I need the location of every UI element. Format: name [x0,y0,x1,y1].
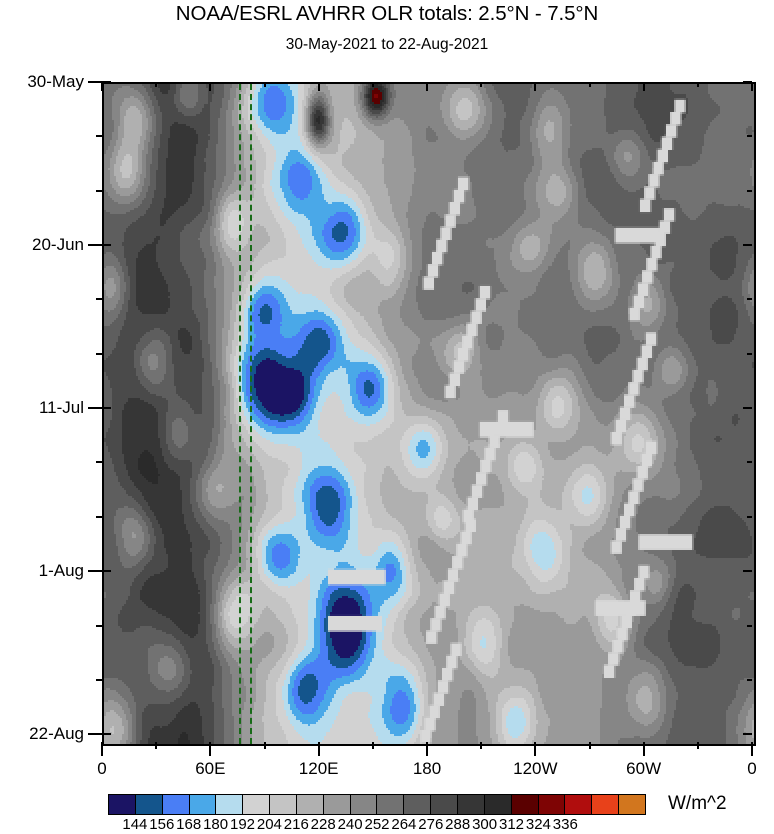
colorbar-tick-label: 324 [526,816,551,833]
x-axis-minor-tick [155,742,157,749]
olr-heatmap-canvas [104,84,754,744]
y-axis-right-tick [743,244,752,246]
colorbar-swatch [539,795,566,814]
figure-root: NOAA/ESRL AVHRR OLR totals: 2.5°N - 7.5°… [0,0,774,834]
y-axis-minor-tick [96,298,104,300]
colorbar-swatch [592,795,619,814]
colorbar-tick-labels: 1441561681801922042162282402522642762883… [108,816,646,834]
x-axis-top-tick [534,82,536,91]
x-axis-minor-tick [372,742,374,749]
colorbar-tick-label: 300 [472,816,497,833]
x-axis-top-tick [318,82,320,91]
colorbar-swatch [431,795,458,814]
y-axis-right-minor-tick [747,190,752,192]
colorbar-tick-label: 144 [122,816,147,833]
y-axis-tick-label: 1-Aug [0,561,84,581]
colorbar-tick-label: 252 [364,816,389,833]
x-axis-major-tick [318,742,320,756]
hovmoller-plot-area [102,82,756,746]
colorbar-tick-label: 180 [203,816,228,833]
colorbar-swatch [565,795,592,814]
y-axis-minor-tick [96,461,104,463]
y-axis-right-minor-tick [747,625,752,627]
x-axis-top-minor-tick [372,82,374,87]
x-axis-top-tick [643,82,645,91]
y-axis-tick-label: 30-May [0,72,84,92]
y-axis-right-tick [743,407,752,409]
y-axis-minor-tick [96,135,104,137]
colorbar [108,794,646,815]
y-axis-right-minor-tick [747,461,752,463]
x-axis-minor-tick [480,742,482,749]
x-axis-top-minor-tick [480,82,482,87]
colorbar-tick-label: 312 [499,816,524,833]
x-axis-minor-tick [589,742,591,749]
colorbar-swatch [404,795,431,814]
y-axis-right-minor-tick [747,516,752,518]
colorbar-tick-label: 228 [311,816,336,833]
x-axis-top-tick [426,82,428,91]
x-axis-top-minor-tick [155,82,157,87]
colorbar-swatch [163,795,190,814]
colorbar-swatch [324,795,351,814]
y-axis-minor-tick [96,353,104,355]
x-axis-top-tick [101,82,103,91]
x-axis-major-tick [534,742,536,756]
x-axis-major-tick [426,742,428,756]
x-axis-tick-label: 0 [97,759,106,779]
page-title: NOAA/ESRL AVHRR OLR totals: 2.5°N - 7.5°… [0,2,774,26]
colorbar-swatch [351,795,378,814]
y-axis-minor-tick [96,679,104,681]
colorbar-swatch [512,795,539,814]
colorbar-swatch [190,795,217,814]
x-axis-top-tick [209,82,211,91]
x-axis-major-tick [209,742,211,756]
y-axis-inner-tick [102,733,111,735]
x-axis-tick-label: 120W [513,759,557,779]
x-axis-top-minor-tick [697,82,699,87]
maritime-continent-marker-east [250,84,252,744]
colorbar-swatch [243,795,270,814]
x-axis-major-tick [101,742,103,756]
y-axis-right-tick [743,733,752,735]
figure-subtitle: 30-May-2021 to 22-Aug-2021 [0,36,774,54]
y-axis-tick-label: 22-Aug [0,724,84,744]
y-axis-right-tick [743,81,752,83]
y-axis-right-minor-tick [747,135,752,137]
colorbar-units-label: W/m^2 [668,793,727,815]
y-axis-inner-tick [102,81,111,83]
colorbar-tick-label: 192 [230,816,255,833]
y-axis-inner-tick [102,407,111,409]
y-axis-right-minor-tick [747,679,752,681]
y-axis-right-tick [743,570,752,572]
colorbar-tick-label: 204 [257,816,282,833]
x-axis-tick-label: 120E [299,759,339,779]
colorbar-swatch [297,795,324,814]
y-axis-minor-tick [96,516,104,518]
y-axis-inner-tick [102,244,111,246]
colorbar-tick-label: 156 [149,816,174,833]
x-axis-top-minor-tick [589,82,591,87]
y-axis-right-minor-tick [747,353,752,355]
y-axis-tick-label: 11-Jul [0,398,84,418]
colorbar-swatch [216,795,243,814]
colorbar-swatch [109,795,136,814]
colorbar-tick-label: 276 [418,816,443,833]
y-axis-tick-label: 20-Jun [0,235,84,255]
colorbar-tick-label: 240 [338,816,363,833]
colorbar-tick-label: 216 [284,816,309,833]
colorbar-tick-label: 168 [176,816,201,833]
y-axis-minor-tick [96,190,104,192]
y-axis-right-minor-tick [747,298,752,300]
colorbar-swatch [619,795,645,814]
colorbar-swatch [458,795,485,814]
y-axis-minor-tick [96,625,104,627]
colorbar-swatch [270,795,297,814]
colorbar-swatch [377,795,404,814]
maritime-continent-marker-west [239,84,241,744]
colorbar-tick-label: 264 [391,816,416,833]
x-axis-tick-label: 60E [195,759,225,779]
y-axis-inner-tick [102,570,111,572]
colorbar-swatch [136,795,163,814]
colorbar-tick-label: 336 [553,816,578,833]
x-axis-major-tick [751,742,753,756]
x-axis-minor-tick [697,742,699,749]
x-axis-tick-label: 180 [413,759,441,779]
x-axis-tick-label: 60W [626,759,661,779]
x-axis-top-tick [751,82,753,91]
x-axis-major-tick [643,742,645,756]
x-axis-top-minor-tick [264,82,266,87]
x-axis-minor-tick [264,742,266,749]
x-axis-tick-label: 0 [747,759,756,779]
colorbar-swatch [485,795,512,814]
colorbar-tick-label: 288 [445,816,470,833]
